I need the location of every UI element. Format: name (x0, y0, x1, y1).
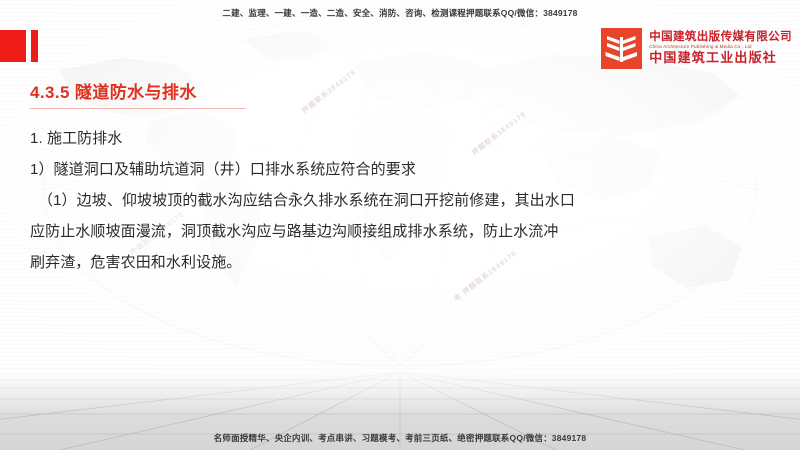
accent-block (0, 30, 26, 62)
red-accent-decoration (0, 30, 38, 62)
heading-level-2: 1）隧道洞口及辅助坑道洞（井）口排水系统应符合的要求 (30, 154, 782, 185)
paragraph-line: 应防止水顺坡面漫流，洞顶截水沟应与路基边沟顺接组成排水系统，防止水流冲 (30, 216, 780, 247)
paragraph-line: （1）边坡、仰坡坡顶的截水沟应结合永久排水系统在洞口开挖前修建，其出水口 (30, 185, 780, 216)
accent-bar (31, 30, 38, 62)
publisher-company-en: China Architecture Publishing & Media Co… (649, 45, 792, 50)
heading-level-1: 1. 施工防排水 (30, 123, 782, 154)
open-book-logo-icon (601, 28, 642, 69)
presentation-slide: 二建、监理、一建、一造、二造、安全、消防、咨询、检测课程押题联系QQ/微信：38… (0, 0, 800, 450)
bottom-promo-banner: 名师面授精华、央企内训、考点串讲、习题模考、考前三页纸、绝密押题联系QQ/微信：… (0, 432, 800, 444)
publisher-logo-text: 中国建筑出版传媒有限公司 China Architecture Publishi… (649, 31, 792, 66)
paragraph-line: 刷弃渣，危害农田和水利设施。 (30, 247, 780, 278)
body-paragraph: （1）边坡、仰坡坡顶的截水沟应结合永久排水系统在洞口开挖前修建，其出水口 应防止… (30, 185, 780, 278)
publisher-press-cn: 中国建筑工业出版社 (649, 52, 792, 66)
publisher-logo: 中国建筑出版传媒有限公司 China Architecture Publishi… (601, 28, 792, 69)
top-promo-banner: 二建、监理、一建、一造、二造、安全、消防、咨询、检测课程押题联系QQ/微信：38… (0, 7, 800, 19)
slide-title: 4.3.5 隧道防水与排水 (30, 78, 782, 108)
publisher-company-cn: 中国建筑出版传媒有限公司 (649, 31, 792, 43)
slide-content: 4.3.5 隧道防水与排水 1. 施工防排水 1）隧道洞口及辅助坑道洞（井）口排… (30, 78, 782, 278)
title-underline (30, 108, 246, 109)
